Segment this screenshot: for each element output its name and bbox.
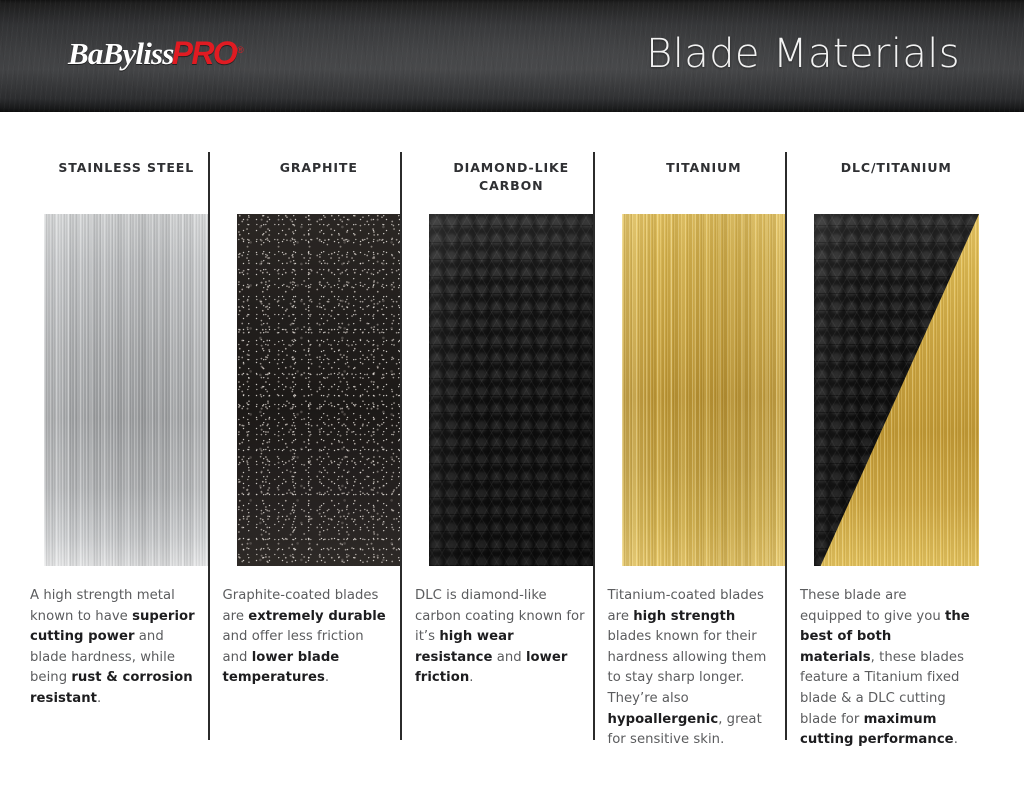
graphite-speckle-swatch (237, 214, 402, 566)
column-body-diamond-like-carbon: DLC is diamond-like carbon coating known… (415, 586, 585, 689)
column-title-stainless-steel: STAINLESS STEEL (30, 112, 223, 203)
column-body-graphite: Graphite-coated blades are extremely dur… (223, 586, 393, 689)
column-body-dlc-titanium: These blade are equipped to give you the… (800, 586, 970, 751)
brushed-stainless-steel-swatch (44, 214, 209, 566)
registered-trademark-icon: ® (237, 45, 244, 55)
column-body-titanium: Titanium-coated blades are high strength… (608, 586, 778, 751)
material-column-graphite: GRAPHITE Graphite-coated blades are extr… (223, 112, 416, 788)
babylisspro-logo[interactable]: BaBylissPRO® (68, 37, 244, 69)
column-title-titanium: TITANIUM (608, 112, 801, 203)
material-column-diamond-like-carbon: DIAMOND-LIKE CARBON DLC is diamond-like … (415, 112, 608, 788)
material-column-titanium: TITANIUM Titanium-coated blades are high… (608, 112, 801, 788)
page-title: Blade Materials (646, 30, 960, 78)
logo-pro-text: PRO (172, 35, 237, 71)
brushed-titanium-gold-swatch (622, 214, 787, 566)
materials-columns: STAINLESS STEEL A high strength metal kn… (0, 112, 1024, 788)
column-title-graphite: GRAPHITE (223, 112, 416, 203)
page-header: BaBylissPRO® Blade Materials (0, 0, 1024, 112)
material-column-dlc-titanium: DLC/TITANIUM These blade are equipped to… (800, 112, 993, 788)
column-title-diamond-like-carbon: DIAMOND-LIKE CARBON (415, 112, 608, 203)
column-title-dlc-titanium: DLC/TITANIUM (800, 112, 993, 203)
material-column-stainless-steel: STAINLESS STEEL A high strength metal kn… (30, 112, 223, 788)
dlc-titanium-split-swatch (814, 214, 979, 566)
blade-materials-infographic: BaBylissPRO® Blade Materials STAINLESS S… (0, 0, 1024, 788)
column-body-stainless-steel: A high strength metal known to have supe… (30, 586, 200, 710)
logo-main-text: BaByliss (68, 36, 174, 71)
dlc-honeycomb-swatch (429, 214, 594, 566)
